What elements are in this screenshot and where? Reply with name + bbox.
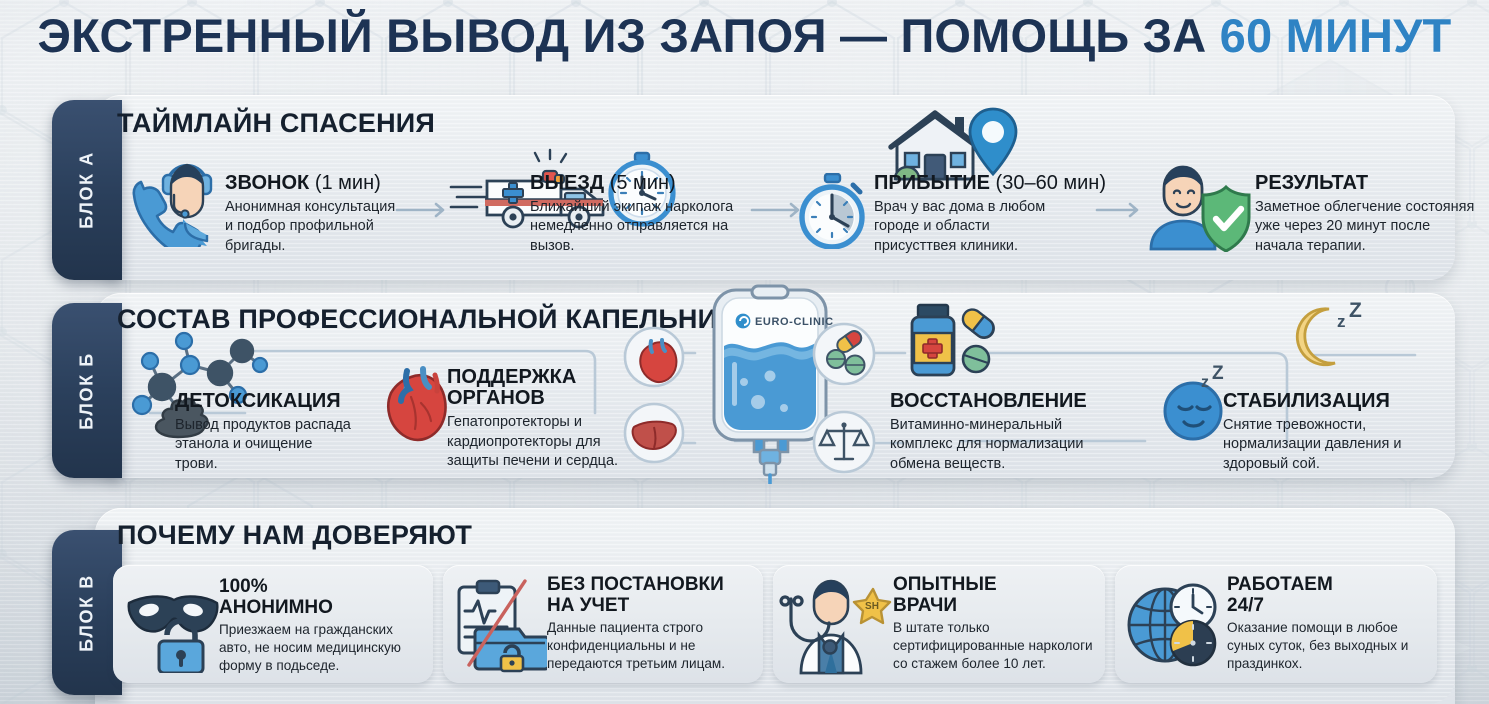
trust-card-no-registration-text: Данные пациента строго конфиденциальны и… [547,619,759,673]
block-a-step-2-duration: (5 мин) [610,172,676,194]
trust-card-experienced-doctors-title-1: ОПЫТНЫЕ [893,575,1103,596]
block-b-item-2-text: Гепатопротекторы и кардиопротекторы для … [447,413,645,471]
arrow-icon-1 [395,200,453,225]
block-b-item-3-text: Витаминно-минеральный комплекс для норма… [890,416,1106,474]
block-b-item-1-text: Вывод продуктов распада этанола и очищен… [175,416,353,474]
trust-card-no-registration-title-2: НА УЧЕТ [547,596,761,617]
trust-card-no-registration-title-1: БЕЗ ПОСТАНОВКИ [547,575,761,596]
trust-card-anonymous-title-2: АНОНИМНО [219,598,429,619]
block-a-step-1: ЗВОНОК (1 мин) Анонимная консультация и … [225,173,415,256]
moon-zzz-icon: z Z [1287,301,1367,373]
block-b-item-1: ДЕТОКСИКАЦИЯ Вывод продуктов распада эта… [175,391,375,474]
globe-clock-icon [1123,577,1227,673]
svg-text:z: z [1337,312,1346,331]
block-a-step-2: ВЫЕЗД (5 мин) Ближайший экипаж нарколога… [530,173,760,256]
trust-card-experienced-doctors[interactable]: SH ОПЫТНЫЕ ВРАЧИ В штате только сертифиц… [773,565,1105,683]
block-c-panel: ПОЧЕМУ НАМ ДОВЕРЯЮТ 100% АНОНИМНО Приезж… [95,508,1455,704]
trust-card-24-7-title-1: РАБОТАЕМ [1227,575,1431,596]
block-a-step-4-title-text: РЕЗУЛЬТАТ [1255,172,1368,194]
block-a-panel: ТАЙМЛАЙН СПАСЕНИЯ ЗВОНОК (1 мин) Анонимн… [95,95,1455,280]
page-title-main: ЭКСТРЕННЫЙ ВЫВОД ИЗ ЗАПОЯ — ПОМОЩЬ ЗА [38,9,1220,62]
block-b-item-1-title: ДЕТОКСИКАЦИЯ [175,391,375,412]
trust-card-experienced-doctors-title-2: ВРАЧИ [893,596,1103,617]
heart-badge-icon [622,325,686,389]
block-tab-c-label: БЛОК В [77,574,98,652]
block-b-item-3: ВОССТАНОВЛЕНИЕ Витаминно-минеральный ком… [890,391,1130,474]
trust-card-24-7-title-2: 24/7 [1227,596,1431,617]
block-b-item-4-text: Снятие тревожности, нормализации давлени… [1223,416,1419,474]
trust-card-experienced-doctors-body: ОПЫТНЫЕ ВРАЧИ В штате только сертифициро… [893,575,1103,673]
block-a-step-2-text: Ближайший экипаж нарколога немедленно от… [530,198,756,256]
block-a-step-3-title: ПРИБЫТИЕ (30–60 мин) [874,173,1114,194]
block-a-step-1-text: Анонимная консультация и подбор профильн… [225,198,407,256]
clipboard-crossed-folder-lock-icon [451,577,547,673]
trust-card-24-7[interactable]: РАБОТАЕМ 24/7 Оказание помощи в любое су… [1115,565,1437,683]
block-b-panel: СОСТАВ ПРОФЕССИОНАЛЬНОЙ КАПЕЛЬНИЦЫ [95,293,1455,478]
block-a-step-2-title-text: ВЫЕЗД [530,172,604,194]
svg-text:Z: Z [1212,365,1224,384]
block-c-heading: ПОЧЕМУ НАМ ДОВЕРЯЮТ [117,520,472,551]
block-tab-a: БЛОК А [52,100,122,280]
vitamin-bottle-pills-icon [898,301,1008,383]
liver-badge-icon [622,401,686,465]
trust-card-no-registration-body: БЕЗ ПОСТАНОВКИ НА УЧЕТ Данные пациента с… [547,575,761,673]
trust-card-experienced-doctors-text: В штате только сертифицированные нарколо… [893,619,1099,673]
block-a-step-3-duration: (30–60 мин) [996,172,1106,194]
block-b-item-3-title: ВОССТАНОВЛЕНИЕ [890,391,1130,412]
heart-icon [377,363,455,443]
trust-card-24-7-text: Оказание помощи в любое суных суток, без… [1227,619,1427,673]
block-a-heading: ТАЙМЛАЙН СПАСЕНИЯ [117,108,435,139]
block-a-step-1-title-text: ЗВОНОК [225,172,309,194]
block-tab-a-label: БЛОК А [77,151,98,229]
scales-badge-icon [811,409,877,475]
block-a-step-1-title: ЗВОНОК (1 мин) [225,173,415,194]
block-a-step-4-text: Заметное облегчение состояняя уже через … [1255,198,1479,256]
block-a-step-3-text: Врач у вас дома в любом городе и области… [874,198,1070,256]
phone-headset-icon [123,157,219,247]
block-a-step-3-title-text: ПРИБЫТИЕ [874,172,990,194]
block-a-step-1-duration: (1 мин) [315,172,381,194]
block-a-step-3: ПРИБЫТИЕ (30–60 мин) Врач у вас дома в л… [874,173,1114,256]
pills-badge-icon [811,321,877,387]
trust-card-anonymous-body: 100% АНОНИМНО Приезжаем на гражданских а… [219,577,429,675]
patient-shield-check-icon [1145,157,1255,252]
block-tab-c: БЛОК В [52,530,122,695]
trust-card-anonymous[interactable]: 100% АНОНИМНО Приезжаем на гражданских а… [113,565,433,683]
block-b-item-4-title: СТАБИЛИЗАЦИЯ [1223,391,1453,412]
page-title-accent: 60 МИНУТ [1220,9,1452,62]
mask-lock-icon [123,581,219,673]
svg-text:Z: Z [1349,301,1362,322]
doctor-star-badge-icon: SH [779,575,899,675]
block-a-step-4: РЕЗУЛЬТАТ Заметное облегчение состояняя … [1255,173,1485,256]
block-b-item-4: СТАБИЛИЗАЦИЯ Снятие тревожности, нормали… [1223,391,1453,474]
page-title: ЭКСТРЕННЫЙ ВЫВОД ИЗ ЗАПОЯ — ПОМОЩЬ ЗА 60… [0,8,1489,63]
doctor-badge-text: SH [865,601,879,612]
stopwatch-half-icon [795,173,871,249]
svg-text:z: z [1201,374,1209,391]
block-a-step-2-title: ВЫЕЗД (5 мин) [530,173,760,194]
trust-card-anonymous-text: Приезжаем на гражданских авто, не носим … [219,621,427,675]
block-a-step-4-title: РЕЗУЛЬТАТ [1255,173,1485,194]
arrow-icon-3 [1095,200,1147,225]
trust-card-anonymous-title-1: 100% [219,577,429,598]
trust-card-24-7-body: РАБОТАЕМ 24/7 Оказание помощи в любое су… [1227,575,1431,673]
trust-card-no-registration[interactable]: БЕЗ ПОСТАНОВКИ НА УЧЕТ Данные пациента с… [443,565,763,683]
